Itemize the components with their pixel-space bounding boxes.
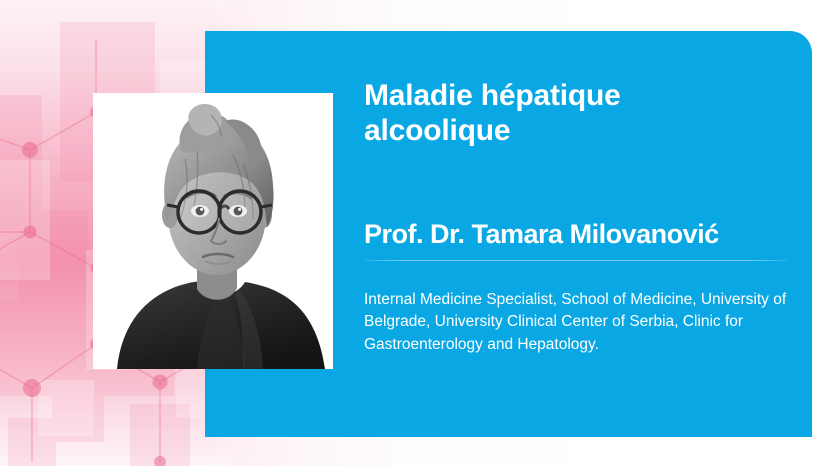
presenter-name: Prof. Dr. Tamara Milovanović — [364, 220, 792, 250]
presenter-photo — [93, 93, 333, 369]
title-block: Maladie hépatique alcoolique — [364, 78, 792, 148]
presenter-name-block: Prof. Dr. Tamara Milovanović — [364, 220, 792, 261]
portrait-image — [93, 93, 333, 369]
presenter-affiliation: Internal Medicine Specialist, School of … — [364, 289, 796, 356]
divider — [364, 260, 788, 261]
presentation-slide: Maladie hépatique alcoolique Prof. Dr. T… — [0, 0, 828, 466]
page-title: Maladie hépatique alcoolique — [364, 78, 792, 148]
